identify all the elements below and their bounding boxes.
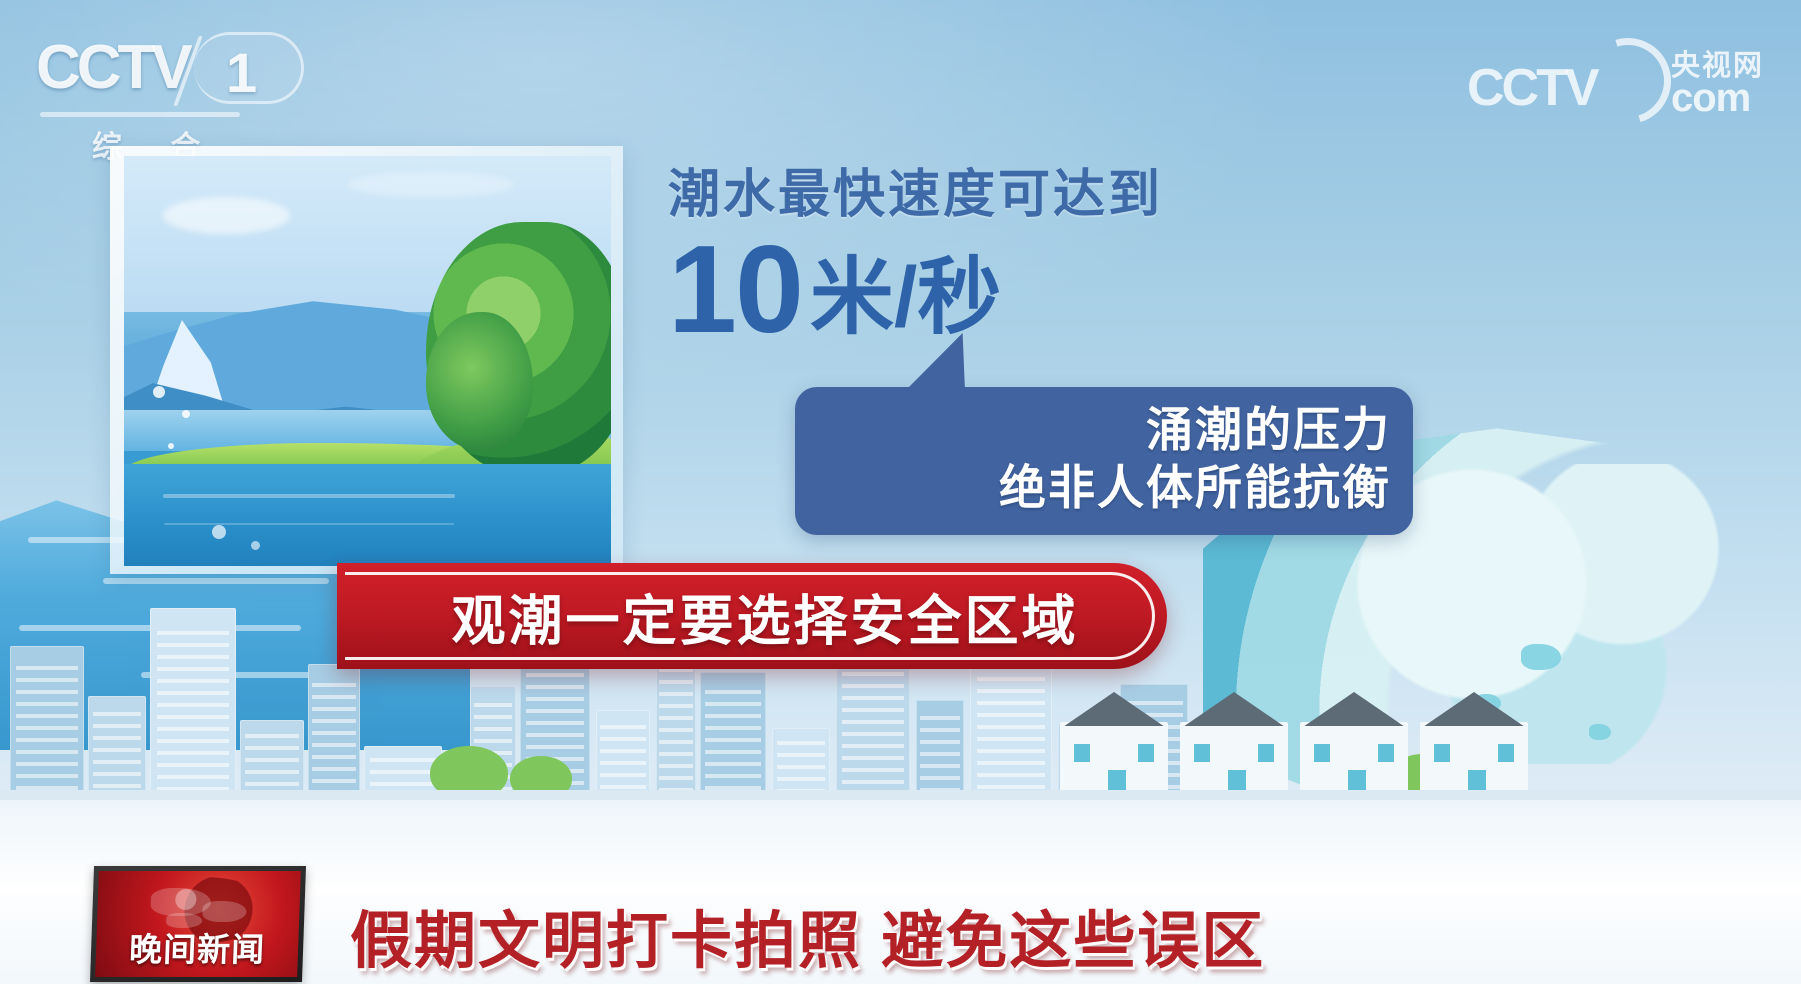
news-headline-text: 假期文明打卡拍照 避免这些误区 [350,890,1265,980]
headline-unit: 米/秒 [810,253,1001,341]
watermark-wordmark: CCTV [1467,58,1597,118]
headline-number: 10 [668,233,802,347]
watermark-site-en: com [1671,76,1750,121]
landscape-illustration [124,156,611,566]
speed-headline: 潮水最快速度可达到 10 米/秒 [668,152,1308,347]
watermark-arc-icon [1570,23,1686,139]
broadcast-screen: CCTV 1 综 合 CCTV 央视网 com [0,0,1801,984]
callout-line1: 涌潮的压力 [999,401,1391,459]
channel-underbar [40,112,240,117]
cctv-com-watermark: CCTV 央视网 com [1467,36,1767,124]
cctv1-channel-logo: CCTV 1 综 合 [36,36,304,146]
headline-line1: 潮水最快速度可达到 [668,152,1308,227]
channel-number: 1 [226,40,257,105]
news-headline-ticker: 假期文明打卡拍照 避免这些误区 [350,892,1781,978]
program-logo: 晚间新闻 [90,866,306,982]
landscape-photo-frame [110,146,623,574]
pressure-callout-bubble: 涌潮的压力 绝非人体所能抗衡 [795,387,1413,535]
program-name: 晚间新闻 [95,923,299,971]
safety-banner-text: 观潮一定要选择安全区域 [337,577,1167,656]
safety-banner: 观潮一定要选择安全区域 [337,563,1167,669]
callout-line2: 绝非人体所能抗衡 [999,459,1391,517]
